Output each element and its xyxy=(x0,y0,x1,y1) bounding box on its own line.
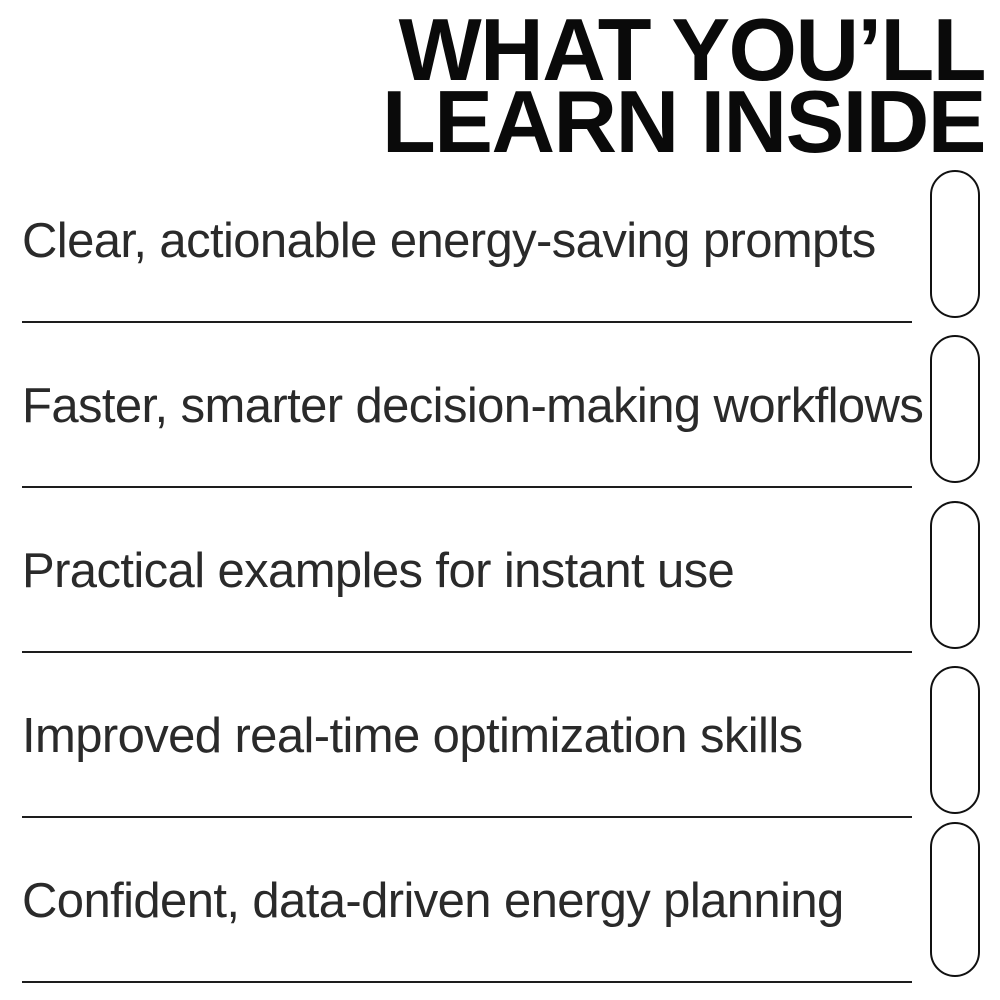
capsule-icon xyxy=(930,666,980,814)
capsule-icon xyxy=(930,335,980,483)
list-item-label: Practical examples for instant use xyxy=(22,488,912,653)
capsule-icon xyxy=(930,501,980,649)
list-item-label: Confident, data-driven energy planning xyxy=(22,818,912,983)
list-item[interactable]: Faster, smarter decision-making workflow… xyxy=(0,323,1000,488)
list-item-label: Faster, smarter decision-making workflow… xyxy=(22,323,912,488)
slide-canvas: WHAT YOU’LL LEARN INSIDE Clear, actionab… xyxy=(0,0,1000,1000)
list-item[interactable]: Confident, data-driven energy planning xyxy=(0,818,1000,983)
capsule-decoration-column xyxy=(930,170,1000,1000)
list-item[interactable]: Clear, actionable energy-saving prompts xyxy=(0,158,1000,323)
list-item-label: Clear, actionable energy-saving prompts xyxy=(22,158,912,323)
capsule-icon xyxy=(930,822,980,977)
list-item-label: Improved real-time optimization skills xyxy=(22,653,912,818)
benefits-list: Clear, actionable energy-saving prompts … xyxy=(0,158,1000,983)
list-item-divider xyxy=(22,981,912,983)
list-item[interactable]: Improved real-time optimization skills xyxy=(0,653,1000,818)
page-title: WHAT YOU’LL LEARN INSIDE xyxy=(0,6,985,158)
page-title-line-2: LEARN INSIDE xyxy=(0,86,985,158)
list-item[interactable]: Practical examples for instant use xyxy=(0,488,1000,653)
capsule-icon xyxy=(930,170,980,318)
